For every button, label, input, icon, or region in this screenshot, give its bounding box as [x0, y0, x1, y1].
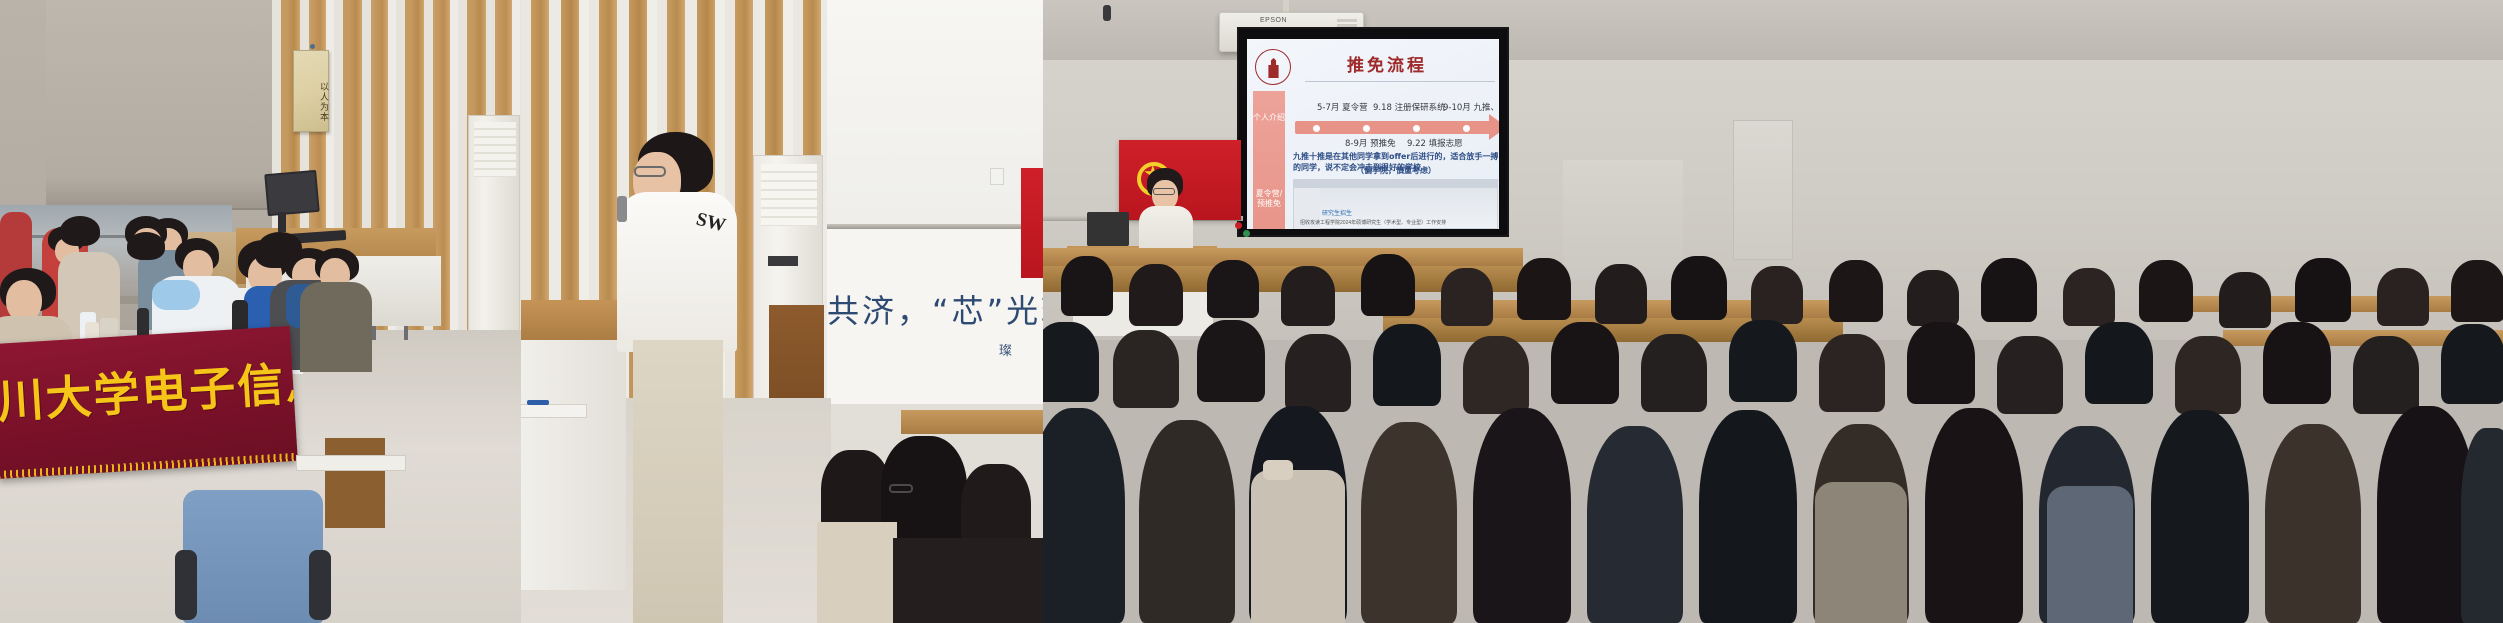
timeline-dot [1413, 125, 1420, 132]
audience-person [1361, 422, 1457, 623]
whiteboard-handwriting: 共济，“芯”光璀璨 [827, 286, 1043, 332]
timeline-dot [1313, 125, 1320, 132]
audience-head [1997, 336, 2063, 414]
youth-league-flag [1021, 168, 1043, 278]
thumbnail-caption: 招收攻读工程学院2024年硕博研究生（学术型、专业型）工作安排 [1300, 219, 1446, 226]
audience-person [300, 282, 372, 372]
audience-head [1361, 254, 1415, 316]
timeline-label-top: 5-7月 夏令营 [1317, 101, 1368, 113]
whiteboard-marker [527, 400, 549, 405]
audience-head [2139, 260, 2193, 322]
slide-sidebar-item: 夏令营/预推免 [1253, 189, 1285, 209]
audience-head [1729, 320, 1797, 402]
ac-grille-icon [474, 122, 516, 177]
audience-head [1595, 264, 1647, 324]
glasses-icon [634, 166, 666, 177]
audience-head [2219, 272, 2271, 328]
audience-head [1061, 256, 1113, 316]
whiteboard-signature: 璨 [999, 340, 1012, 359]
audience-head [1751, 266, 1803, 324]
glasses-icon [1153, 188, 1175, 195]
timeline-label-top: 9-10月 九推、十推 [1443, 101, 1499, 113]
audience-person [1587, 426, 1683, 623]
slide-note-line2: （偏学院，慎重考虑） [1293, 165, 1499, 176]
timeline-label-bottom: 9.22 填报志愿 [1407, 137, 1463, 149]
audience-head [2441, 324, 2503, 404]
audience-head [2353, 336, 2419, 414]
audience-head [1907, 322, 1975, 404]
audience-head [1129, 264, 1183, 326]
banner-text: 川大学电子信息学院 [0, 348, 295, 432]
browser-bar-icon [1294, 180, 1497, 188]
timeline-dot [1363, 125, 1370, 132]
slide-sidebar-item: 个人介绍 [1253, 113, 1285, 123]
audience-person [2461, 428, 2503, 623]
face-mask [152, 280, 200, 310]
audience-head [1671, 256, 1727, 320]
audience-jacket [2047, 486, 2133, 623]
white-desk [296, 455, 406, 471]
audience-head [1043, 322, 1099, 402]
audience-person [1925, 408, 2023, 623]
audience-person [1139, 420, 1235, 623]
audience-front-row [827, 430, 1043, 623]
audience-person [2151, 410, 2249, 623]
event-banner: 川大学电子信息学院 [0, 326, 298, 479]
wooden-chair [325, 438, 385, 528]
audience-head [2295, 258, 2351, 322]
photo-panel-left: 以人为本 [0, 0, 521, 623]
white-side-table [521, 404, 587, 418]
audience-person [1043, 408, 1125, 623]
lectern-monitor [1087, 212, 1129, 246]
bench-desk [901, 410, 1043, 434]
audience-head [1907, 270, 1959, 326]
chair-arm [309, 550, 331, 620]
audience-rows [1043, 250, 2503, 623]
timeline-arrow [1295, 121, 1491, 134]
audience-person [1473, 408, 1571, 623]
slide-divider [1305, 81, 1495, 82]
audience-hair [127, 232, 165, 260]
audience-head [2175, 336, 2241, 414]
audience-head [1197, 320, 1265, 402]
photo-panel-middle: 共济，“芯”光璀璨 璨 SW [521, 0, 1043, 623]
timeline-dot [1463, 125, 1470, 132]
audience-head [1641, 334, 1707, 412]
audience-head [1829, 260, 1883, 322]
timeline-label-top: 9.18 注册保研系统 [1373, 101, 1446, 113]
ac-grille-icon [761, 164, 817, 226]
audience-head [2063, 268, 2115, 326]
air-conditioner [468, 115, 520, 345]
paper-sheet [1263, 460, 1293, 480]
slide-screenshot-thumbnail: 研究生招生 招收攻读工程学院2024年硕博研究生（学术型、专业型）工作安排 [1293, 179, 1498, 229]
audience-head [1981, 258, 2037, 322]
audience-head [2451, 260, 2503, 322]
audience-head [1517, 258, 1571, 320]
audience-head [1207, 260, 1259, 318]
wall-window [1733, 120, 1793, 260]
roller-blind [46, 0, 278, 210]
university-logo-icon [1255, 49, 1291, 85]
timeline-label-bottom: 8-9月 预推免 [1345, 137, 1396, 149]
audience-head [1285, 334, 1351, 412]
slide-title: 推免流程 [1347, 51, 1427, 76]
audience-person [2265, 424, 2361, 623]
monitor-stand [278, 212, 286, 232]
projector-brand-label: EPSON [1260, 17, 1287, 24]
magnet-icon [1243, 230, 1250, 237]
ceiling-microphone [1103, 5, 1111, 21]
wall-switch[interactable] [990, 168, 1004, 185]
audience-head [1463, 336, 1529, 414]
audience-jacket [1251, 470, 1345, 623]
thumbnail-link-label: 研究生招生 [1322, 208, 1352, 217]
audience-head [1551, 322, 1619, 404]
lectern-monitor [264, 170, 319, 216]
chair-arm [175, 550, 197, 620]
audience-head [1373, 324, 1441, 406]
audience-jacket [1815, 482, 1907, 623]
audience-head [2377, 268, 2429, 326]
wall-poster: 以人为本 [293, 50, 329, 132]
audience-shoulders [817, 522, 897, 623]
audience-shoulders [893, 538, 1043, 623]
poster-hook-icon [310, 44, 315, 49]
speaker-legs [633, 340, 723, 623]
audience-head [1441, 268, 1493, 326]
audience-hair [60, 216, 100, 246]
ac-display-panel [768, 256, 798, 266]
microphone [617, 196, 627, 222]
audience-head [1281, 266, 1335, 326]
photo-panel-right: EPSON 推免流程 个人介绍 夏令营/预推免 5-7月 夏令营 9.18 注册… [1043, 0, 2503, 623]
blue-office-chair [183, 490, 323, 623]
lectern-body [521, 340, 626, 590]
audience-head [2085, 322, 2153, 404]
audience-person [1699, 410, 1797, 623]
audience-head [2263, 322, 2331, 404]
whiteboard-upper [827, 0, 1043, 230]
magnet-icon [1235, 222, 1242, 229]
projection-screen: 推免流程 个人介绍 夏令营/预推免 5-7月 夏令营 9.18 注册保研系统 9… [1237, 27, 1509, 237]
audience-head [1819, 334, 1885, 412]
glasses-icon [889, 484, 913, 493]
audience-head [1113, 330, 1179, 408]
presentation-slide: 推免流程 个人介绍 夏令营/预推免 5-7月 夏令营 9.18 注册保研系统 9… [1247, 39, 1499, 229]
photo-collage: 以人为本 [0, 0, 2503, 623]
